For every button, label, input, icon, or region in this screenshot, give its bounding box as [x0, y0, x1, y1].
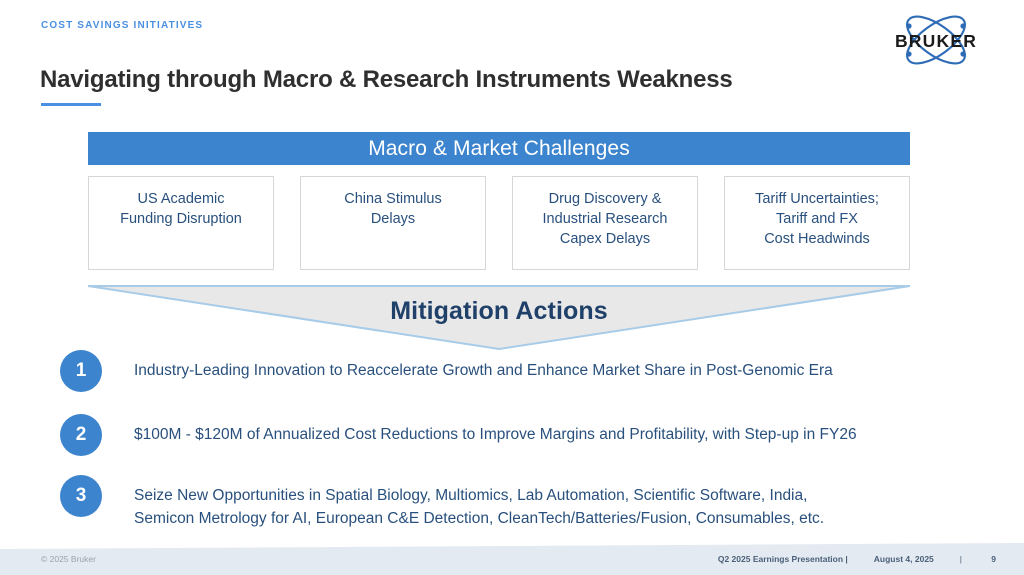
challenge-box: Tariff Uncertainties; Tariff and FX Cost…: [724, 176, 910, 270]
list-item: 3 Seize New Opportunities in Spatial Bio…: [60, 475, 824, 530]
challenge-box: US Academic Funding Disruption: [88, 176, 274, 270]
challenge-box-label: Drug Discovery & Industrial Research Cap…: [513, 189, 697, 249]
challenge-box-label: Tariff Uncertainties; Tariff and FX Cost…: [725, 189, 909, 249]
action-number-badge: 3: [60, 475, 102, 517]
slide-footer: © 2025 Bruker Q2 2025 Earnings Presentat…: [0, 543, 1024, 575]
mitigation-actions-label: Mitigation Actions: [88, 297, 910, 326]
bruker-wordmark: BRUKER: [895, 31, 977, 51]
challenge-box-label: China Stimulus Delays: [301, 189, 485, 229]
footer-copyright: © 2025 Bruker: [41, 554, 96, 564]
title-underline-rule: [41, 103, 101, 106]
bruker-logo: BRUKER: [876, 14, 996, 70]
footer-deck-name: Q2 2025 Earnings Presentation |: [718, 554, 848, 564]
action-number-badge: 2: [60, 414, 102, 456]
challenge-box-row: US Academic Funding Disruption China Sti…: [88, 176, 910, 270]
footer-meta: Q2 2025 Earnings Presentation | August 4…: [718, 554, 996, 564]
challenge-box: Drug Discovery & Industrial Research Cap…: [512, 176, 698, 270]
challenges-banner-label: Macro & Market Challenges: [368, 137, 630, 161]
footer-separator: |: [960, 554, 962, 564]
challenge-box: China Stimulus Delays: [300, 176, 486, 270]
slide: COST SAVINGS INITIATIVES Navigating thro…: [0, 0, 1024, 575]
challenge-box-label: US Academic Funding Disruption: [89, 189, 273, 229]
action-number-badge: 1: [60, 350, 102, 392]
action-item-text: Industry-Leading Innovation to Reacceler…: [134, 350, 833, 382]
action-item-text: Seize New Opportunities in Spatial Biolo…: [134, 475, 824, 530]
footer-date: August 4, 2025: [874, 554, 934, 564]
challenges-banner: Macro & Market Challenges: [88, 132, 910, 165]
mitigation-actions-chevron: Mitigation Actions: [88, 285, 910, 351]
bruker-atom-icon: BRUKER: [876, 14, 996, 70]
list-item: 1 Industry-Leading Innovation to Reaccel…: [60, 350, 833, 392]
list-item: 2 $100M - $120M of Annualized Cost Reduc…: [60, 414, 857, 456]
page-title: Navigating through Macro & Research Inst…: [40, 66, 733, 94]
action-item-text: $100M - $120M of Annualized Cost Reducti…: [134, 414, 857, 446]
eyebrow-label: COST SAVINGS INITIATIVES: [41, 20, 203, 31]
footer-page-number: 9: [988, 554, 996, 564]
